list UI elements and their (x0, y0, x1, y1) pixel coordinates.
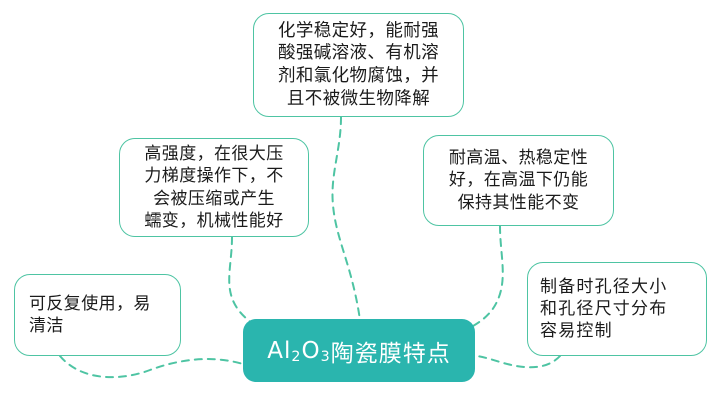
branch-node-chemical-stability-label: 化学稳定好，能耐强 酸强碱溶液、有机溶 剂和氯化物腐蚀，并 且不被微生物降解 (263, 20, 454, 111)
branch-node-reusable-label: 可反复使用，易 清洁 (29, 293, 171, 337)
center-node-label: 陶瓷膜特点 (331, 334, 451, 368)
branch-node-chemical-stability[interactable]: 化学稳定好，能耐强 酸强碱溶液、有机溶 剂和氯化物腐蚀，并 且不被微生物降解 (253, 13, 464, 117)
center-node-formula-o: O (302, 338, 321, 364)
branch-node-mechanical-strength[interactable]: 高强度，在很大压 力梯度操作下，不 会被压缩或产生 蠕变，机械性能好 (119, 138, 309, 237)
connector-reusable-to-center (60, 356, 243, 377)
branch-node-pore-control-label: 制备时孔径大小 和孔径尺寸分布 容易控制 (540, 276, 697, 342)
center-node-formula-al: Al (267, 338, 291, 364)
branch-node-reusable[interactable]: 可反复使用，易 清洁 (14, 274, 181, 356)
center-node[interactable]: Al2O3 陶瓷膜特点 (243, 319, 475, 382)
center-node-formula-al-sub: 2 (291, 349, 301, 365)
connector-chemical-to-center (332, 117, 360, 320)
mindmap-canvas: 化学稳定好，能耐强 酸强碱溶液、有机溶 剂和氯化物腐蚀，并 且不被微生物降解 高… (0, 0, 721, 402)
center-node-formula-o-sub: 3 (321, 349, 331, 365)
connector-pore-to-center (475, 356, 560, 367)
center-node-formula: Al2O3 (267, 338, 330, 364)
branch-node-thermal-stability[interactable]: 耐高温、热稳定性 好，在高温下仍能 保持其性能不变 (423, 135, 614, 226)
branch-node-thermal-stability-label: 耐高温、热稳定性 好，在高温下仍能 保持其性能不变 (433, 147, 604, 213)
branch-node-mechanical-strength-label: 高强度，在很大压 力梯度操作下，不 会被压缩或产生 蠕变，机械性能好 (129, 143, 299, 231)
branch-node-pore-control[interactable]: 制备时孔径大小 和孔径尺寸分布 容易控制 (527, 262, 707, 356)
